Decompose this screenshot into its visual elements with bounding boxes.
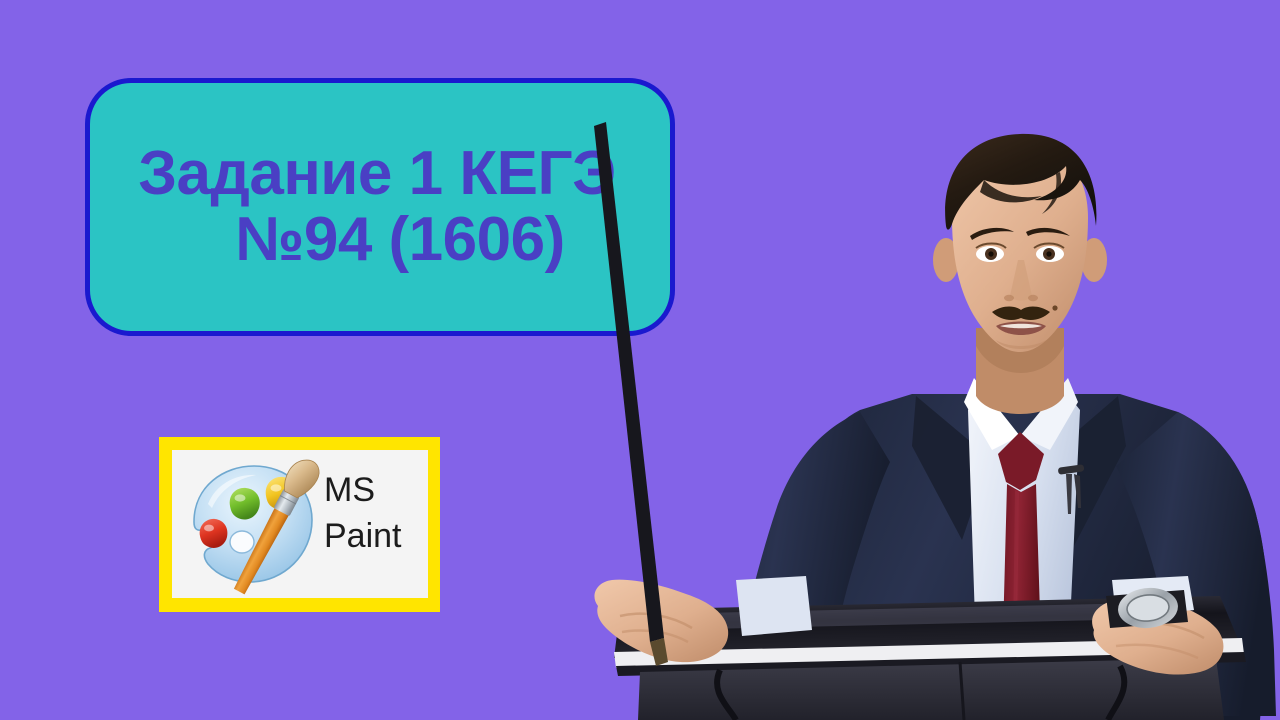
left-hand-with-stylus (594, 122, 812, 666)
presenter-figure (560, 110, 1280, 720)
title-line-primary: Задание 1 КЕГЭ (138, 141, 616, 207)
head (933, 134, 1107, 352)
ms-paint-badge: MS Paint (159, 437, 440, 612)
ms-paint-palette-icon (174, 450, 324, 598)
title-line-secondary: №94 (1606) (235, 207, 565, 273)
stylus-pen (594, 122, 664, 642)
ms-paint-badge-inner: MS Paint (172, 450, 428, 598)
red-paint-blob (200, 519, 228, 548)
ms-paint-label: MS Paint (324, 468, 428, 559)
video-thumbnail-canvas: Задание 1 КЕГЭ №94 (1606) (0, 0, 1280, 720)
ms-paint-label-line-1: MS (324, 468, 428, 514)
ms-paint-label-line-2: Paint (324, 514, 428, 560)
